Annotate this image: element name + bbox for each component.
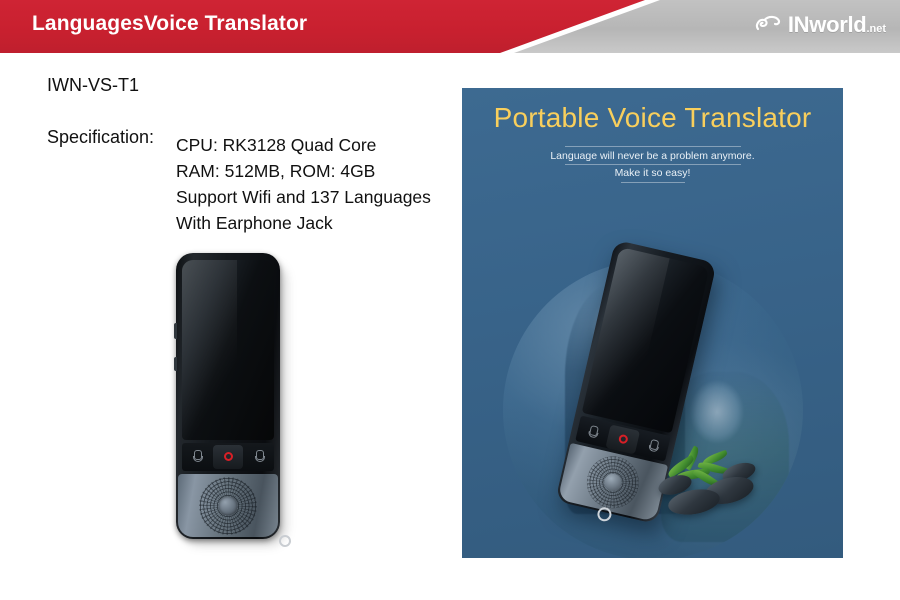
spec-line-earphone: With Earphone Jack xyxy=(176,210,431,236)
page-title: LanguagesVoice Translator xyxy=(32,12,307,36)
spec-line-memory: RAM: 512MB, ROM: 4GB xyxy=(176,158,431,184)
logo-tld: .net xyxy=(866,23,886,35)
specification-label: Specification: xyxy=(47,127,154,148)
mic-left-icon xyxy=(193,450,201,463)
device-speaker-panel xyxy=(178,474,278,537)
device-button-row xyxy=(182,443,274,471)
inworld-swirl-icon xyxy=(753,13,783,35)
device-screen xyxy=(182,260,274,440)
tagline-rule-bottom xyxy=(621,182,685,183)
device-body xyxy=(176,253,280,539)
poster-mic-right-icon xyxy=(648,439,659,453)
tagline-line-2: Make it so easy! xyxy=(462,165,843,182)
mic-right-icon xyxy=(255,450,263,463)
specification-list: CPU: RK3128 Quad Core RAM: 512MB, ROM: 4… xyxy=(176,132,431,236)
poster-tagline: Language will never be a problem anymore… xyxy=(462,146,843,183)
spec-line-wifi: Support Wifi and 137 Languages xyxy=(176,184,431,210)
product-poster: Portable Voice Translator Language will … xyxy=(462,88,843,558)
poster-title: Portable Voice Translator xyxy=(462,102,843,134)
brand-logo[interactable]: INworld.net xyxy=(753,10,886,38)
logo-name: INworld xyxy=(788,12,867,37)
device-photo-front xyxy=(176,253,288,545)
device-side-button-down xyxy=(174,357,177,371)
logo-text: INworld.net xyxy=(788,12,886,38)
tagline-line-1: Language will never be a problem anymore… xyxy=(462,147,843,164)
model-code: IWN-VS-T1 xyxy=(47,75,139,96)
device-side-button-up xyxy=(174,323,177,339)
poster-mic-left-icon xyxy=(587,425,598,439)
speaker-dome-button xyxy=(219,496,238,515)
record-button-icon xyxy=(224,452,233,461)
page-header: LanguagesVoice Translator INworld.net xyxy=(0,0,900,53)
spec-line-cpu: CPU: RK3128 Quad Core xyxy=(176,132,431,158)
poster-stones-and-plant xyxy=(658,460,778,530)
